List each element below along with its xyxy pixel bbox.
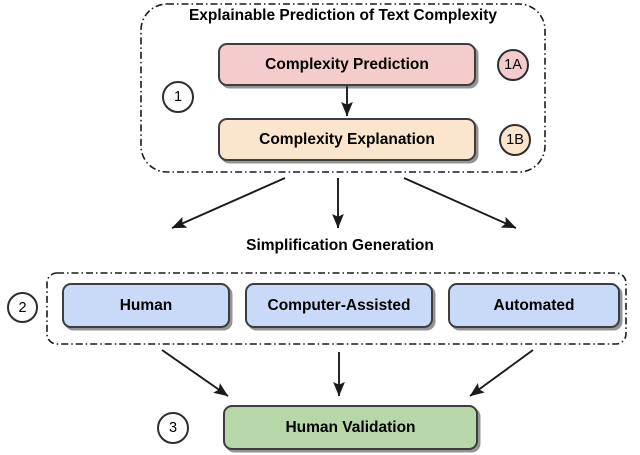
group-2-title: Simplification Generation	[138, 237, 542, 255]
node-complexity-prediction[interactable]: Complexity Prediction	[218, 43, 476, 86]
node-complexity-prediction-label: Complexity Prediction	[265, 56, 429, 74]
badge-stage-three: 3	[157, 412, 189, 444]
node-human-validation-label: Human Validation	[285, 419, 415, 437]
node-complexity-explanation-label: Complexity Explanation	[259, 131, 435, 149]
badge-stage-one: 1	[162, 81, 194, 113]
edge-human-to-validation	[162, 350, 228, 396]
node-human-label: Human	[120, 297, 173, 315]
badge-stage-one-b: 1B	[499, 124, 531, 156]
node-human[interactable]: Human	[62, 283, 230, 328]
node-automated[interactable]: Automated	[448, 283, 620, 328]
node-computer-assisted-label: Computer-Assisted	[268, 297, 411, 315]
node-computer-assisted[interactable]: Computer-Assisted	[245, 283, 433, 328]
edge-automated-to-validation	[470, 350, 533, 396]
edge-group1-to-human	[172, 178, 285, 228]
node-human-validation[interactable]: Human Validation	[223, 405, 478, 450]
diagram-canvas: Explainable Prediction of Text Complexit…	[0, 0, 640, 455]
edge-group1-to-automated	[404, 178, 516, 228]
badge-stage-two: 2	[7, 292, 38, 323]
group-1-title: Explainable Prediction of Text Complexit…	[141, 7, 545, 25]
node-complexity-explanation[interactable]: Complexity Explanation	[218, 118, 476, 161]
node-automated-label: Automated	[494, 297, 575, 315]
badge-stage-one-a: 1A	[497, 49, 529, 81]
